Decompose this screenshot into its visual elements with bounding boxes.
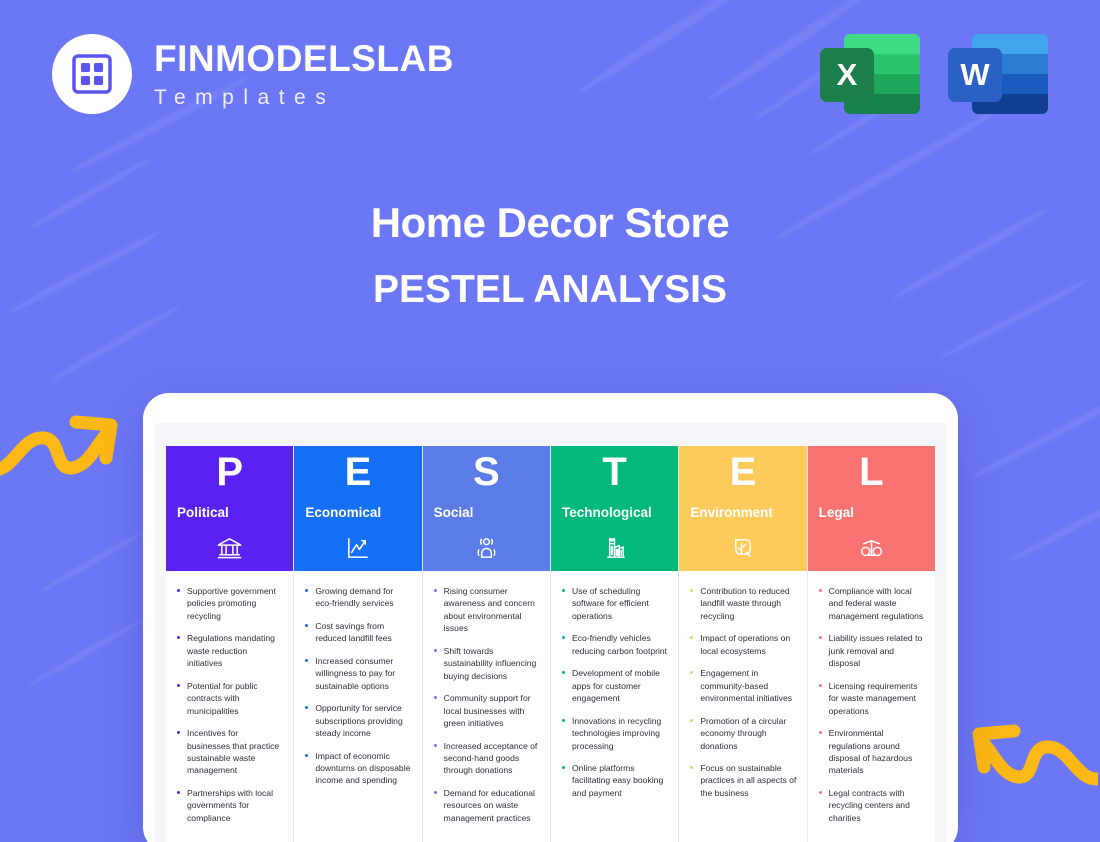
column-body-legal: Compliance with local and federal waste … — [808, 571, 935, 842]
bullet-list-environment: Contribution to reduced landfill waste t… — [688, 585, 796, 799]
list-item: Shift towards sustainability influencing… — [432, 645, 540, 682]
list-item: Eco-friendly vehicles reducing carbon fo… — [560, 632, 668, 657]
column-name: Political — [177, 506, 293, 520]
list-item: Rising consumer awareness and concern ab… — [432, 585, 540, 635]
pestel-column-environment: E Environment Contribution to reduced la… — [679, 446, 807, 842]
column-body-technological: Use of scheduling software for efficient… — [551, 571, 678, 842]
list-item: Licensing requirements for waste managem… — [817, 680, 925, 717]
list-item: Compliance with local and federal waste … — [817, 585, 925, 622]
column-name: Legal — [819, 506, 935, 520]
list-item: Increased consumer willingness to pay fo… — [303, 655, 411, 692]
excel-icon-letter: X — [820, 48, 874, 102]
column-letter: P — [166, 452, 293, 492]
list-item: Impact of economic downturns on disposab… — [303, 750, 411, 787]
list-item: Increased acceptance of second-hand good… — [432, 740, 540, 777]
list-item: Environmental regulations around disposa… — [817, 727, 925, 777]
column-letter: T — [551, 452, 678, 492]
column-body-environment: Contribution to reduced landfill waste t… — [679, 571, 806, 842]
arrow-down-left-icon — [968, 709, 1098, 804]
pestel-matrix: P Political Supportive government polici… — [166, 446, 935, 842]
list-item: Focus on sustainable practices in all as… — [688, 762, 796, 799]
list-item: Promotion of a circular economy through … — [688, 715, 796, 752]
column-body-political: Supportive government policies promoting… — [166, 571, 293, 842]
column-body-economical: Growing demand for eco-friendly services… — [294, 571, 421, 842]
title-subtitle: PESTEL ANALYSIS — [0, 268, 1100, 312]
brand-logo[interactable]: FINMODELSLAB Templates — [52, 34, 454, 114]
scales-justice-icon — [808, 526, 935, 571]
column-header-environment: E Environment — [679, 446, 806, 526]
list-item: Opportunity for service subscriptions pr… — [303, 702, 411, 739]
bullet-list-legal: Compliance with local and federal waste … — [817, 585, 925, 824]
column-letter: S — [423, 452, 550, 492]
pestel-column-legal: L Legal Compliance with local and federa… — [808, 446, 935, 842]
column-name: Economical — [305, 506, 421, 520]
word-icon[interactable]: W — [948, 26, 1048, 120]
list-item: Use of scheduling software for efficient… — [560, 585, 668, 622]
list-item: Legal contracts with recycling centers a… — [817, 787, 925, 824]
list-item: Demand for educational resources on wast… — [432, 787, 540, 824]
list-item: Community support for local businesses w… — [432, 692, 540, 729]
list-item: Innovations in recycling technologies im… — [560, 715, 668, 752]
column-letter: E — [294, 452, 421, 492]
list-item: Cost savings from reduced landfill fees — [303, 620, 411, 645]
pestel-column-economical: E Economical Growing demand for eco-frie… — [294, 446, 422, 842]
column-name: Technological — [562, 506, 678, 520]
column-header-social: S Social — [423, 446, 550, 526]
pestel-column-political: P Political Supportive government polici… — [166, 446, 294, 842]
pestel-card-inner: P Political Supportive government polici… — [155, 423, 946, 842]
word-icon-letter: W — [948, 48, 1002, 102]
office-format-icons: X W — [820, 26, 1048, 120]
list-item: Impact of operations on local ecosystems — [688, 632, 796, 657]
people-group-icon — [423, 526, 550, 571]
arrow-up-right-icon — [0, 398, 122, 493]
column-name: Social — [434, 506, 550, 520]
list-item: Potential for public contracts with muni… — [175, 680, 283, 717]
factory-building-icon — [551, 526, 678, 571]
column-letter: E — [679, 452, 806, 492]
line-chart-icon — [294, 526, 421, 571]
column-header-legal: L Legal — [808, 446, 935, 526]
list-item: Contribution to reduced landfill waste t… — [688, 585, 796, 622]
brand-subtitle: Templates — [154, 87, 454, 108]
column-header-political: P Political — [166, 446, 293, 526]
page-title: Home Decor Store PESTEL ANALYSIS — [0, 200, 1100, 312]
pestel-column-social: S Social Rising consumer awaren — [423, 446, 551, 842]
list-item: Growing demand for eco-friendly services — [303, 585, 411, 610]
pestel-column-technological: T Technological — [551, 446, 679, 842]
excel-icon[interactable]: X — [820, 26, 920, 120]
list-item: Partnerships with local governments for … — [175, 787, 283, 824]
column-body-social: Rising consumer awareness and concern ab… — [423, 571, 550, 842]
bullet-list-social: Rising consumer awareness and concern ab… — [432, 585, 540, 824]
list-item: Liability issues related to junk removal… — [817, 632, 925, 669]
bullet-list-political: Supportive government policies promoting… — [175, 585, 283, 824]
column-header-economical: E Economical — [294, 446, 421, 526]
bank-building-icon — [166, 526, 293, 571]
leaf-icon — [679, 526, 806, 571]
list-item: Engagement in community-based environmen… — [688, 667, 796, 704]
title-main: Home Decor Store — [0, 200, 1100, 246]
grid-squares-icon — [52, 34, 132, 114]
list-item: Incentives for businesses that practice … — [175, 727, 283, 777]
column-name: Environment — [690, 506, 806, 520]
column-header-technological: T Technological — [551, 446, 678, 526]
list-item: Online platforms facilitating easy booki… — [560, 762, 668, 799]
list-item: Development of mobile apps for customer … — [560, 667, 668, 704]
page-header: FINMODELSLAB Templates X W — [0, 0, 1100, 150]
list-item: Supportive government policies promoting… — [175, 585, 283, 622]
list-item: Regulations mandating waste reduction in… — [175, 632, 283, 669]
bullet-list-technological: Use of scheduling software for efficient… — [560, 585, 668, 799]
column-letter: L — [808, 452, 935, 492]
brand-name: FINMODELSLAB — [154, 40, 454, 77]
pestel-card: P Political Supportive government polici… — [143, 393, 958, 842]
bullet-list-economical: Growing demand for eco-friendly services… — [303, 585, 411, 787]
